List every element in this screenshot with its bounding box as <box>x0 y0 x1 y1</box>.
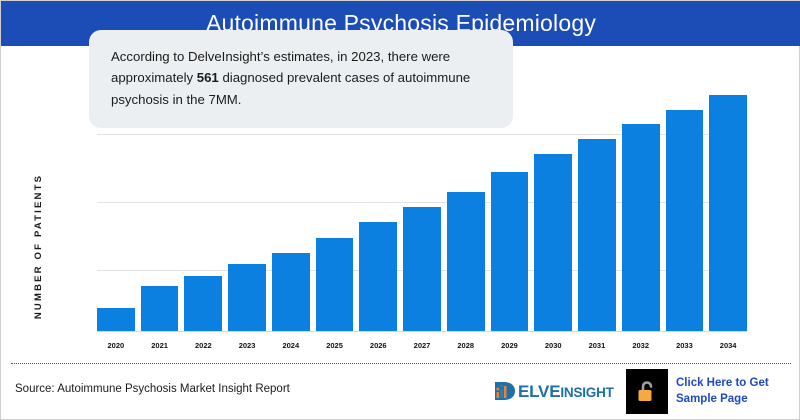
bar-2028[interactable] <box>447 192 485 332</box>
source-note: Source: Autoimmune Psychosis Market Insi… <box>15 383 290 395</box>
bar-2021[interactable] <box>141 286 179 332</box>
callout-highlight-value: 561 <box>197 70 219 85</box>
cta-label[interactable]: Click Here to Get Sample Page <box>668 369 788 414</box>
cta-line-1: Click Here to Get <box>676 376 788 392</box>
footer-divider <box>11 363 791 364</box>
bar-2026[interactable] <box>359 222 397 332</box>
bar-column[interactable] <box>578 75 616 332</box>
x-tick-2023: 2023 <box>228 338 266 354</box>
x-tick-2020: 2020 <box>97 338 135 354</box>
x-tick-2032: 2032 <box>622 338 660 354</box>
bar-column[interactable] <box>666 75 704 332</box>
x-tick-2028: 2028 <box>447 338 485 354</box>
bar-2030[interactable] <box>534 154 572 332</box>
x-tick-2024: 2024 <box>272 338 310 354</box>
padlock-svg <box>636 380 658 404</box>
x-tick-2030: 2030 <box>534 338 572 354</box>
bar-2023[interactable] <box>228 264 266 332</box>
bar-2024[interactable] <box>272 253 310 332</box>
bar-column[interactable] <box>622 75 660 332</box>
x-tick-2031: 2031 <box>578 338 616 354</box>
y-axis-label-text: NUMBER OF PATIENTS <box>34 173 45 318</box>
bar-column[interactable] <box>534 75 572 332</box>
bar-2029[interactable] <box>491 172 529 332</box>
cta-line-2: Sample Page <box>676 392 788 408</box>
axis-baseline <box>97 331 747 332</box>
x-tick-2029: 2029 <box>491 338 529 354</box>
bar-2027[interactable] <box>403 207 441 332</box>
logo-bar-chart-icon <box>493 380 517 402</box>
bar-2025[interactable] <box>316 238 354 332</box>
x-tick-2022: 2022 <box>184 338 222 354</box>
x-tick-2025: 2025 <box>316 338 354 354</box>
bar-2022[interactable] <box>184 276 222 332</box>
bar-2020[interactable] <box>97 308 135 332</box>
x-tick-2027: 2027 <box>403 338 441 354</box>
bar-2031[interactable] <box>578 139 616 332</box>
x-tick-2034: 2034 <box>709 338 747 354</box>
x-tick-2021: 2021 <box>141 338 179 354</box>
bar-column[interactable] <box>709 75 747 332</box>
open-padlock-icon <box>636 380 658 404</box>
x-axis-ticks: 2020202120222023202420252026202720282029… <box>97 338 747 354</box>
logo-text-insight: INSIGHT <box>560 385 613 400</box>
x-tick-2026: 2026 <box>359 338 397 354</box>
bar-2032[interactable] <box>622 124 660 332</box>
callout-text: According to DelveInsight’s estimates, i… <box>111 46 491 110</box>
infographic-page: Autoimmune Psychosis Epidemiology NUMBER… <box>0 0 800 420</box>
delveinsight-logo: ELVEINSIGHT <box>493 379 614 403</box>
logo-wordmark: ELVEINSIGHT <box>518 383 614 400</box>
bar-2034[interactable] <box>709 95 747 332</box>
callout-box: According to DelveInsight’s estimates, i… <box>89 30 513 128</box>
logo-text-elve: ELVE <box>518 382 560 401</box>
y-axis-label: NUMBER OF PATIENTS <box>31 156 47 336</box>
bar-2033[interactable] <box>666 110 704 332</box>
logo-d-icon <box>493 380 517 402</box>
x-tick-2033: 2033 <box>666 338 704 354</box>
sample-page-cta-button[interactable]: Click Here to Get Sample Page <box>626 369 788 414</box>
